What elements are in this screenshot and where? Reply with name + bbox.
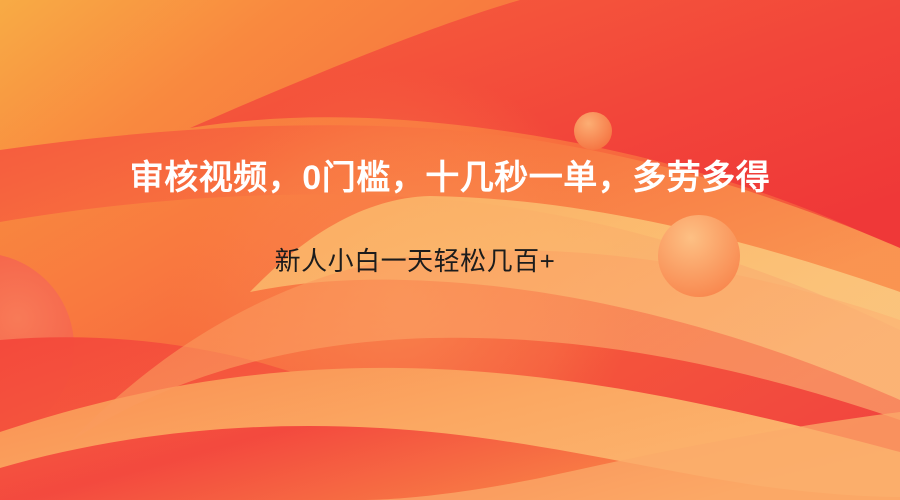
promo-banner: 审核视频，0门槛，十几秒一单，多劳多得 新人小白一天轻松几百+: [0, 0, 900, 500]
circle-small-top: [574, 112, 612, 150]
background-artwork: [0, 0, 900, 500]
circle-large-mid: [658, 215, 740, 297]
